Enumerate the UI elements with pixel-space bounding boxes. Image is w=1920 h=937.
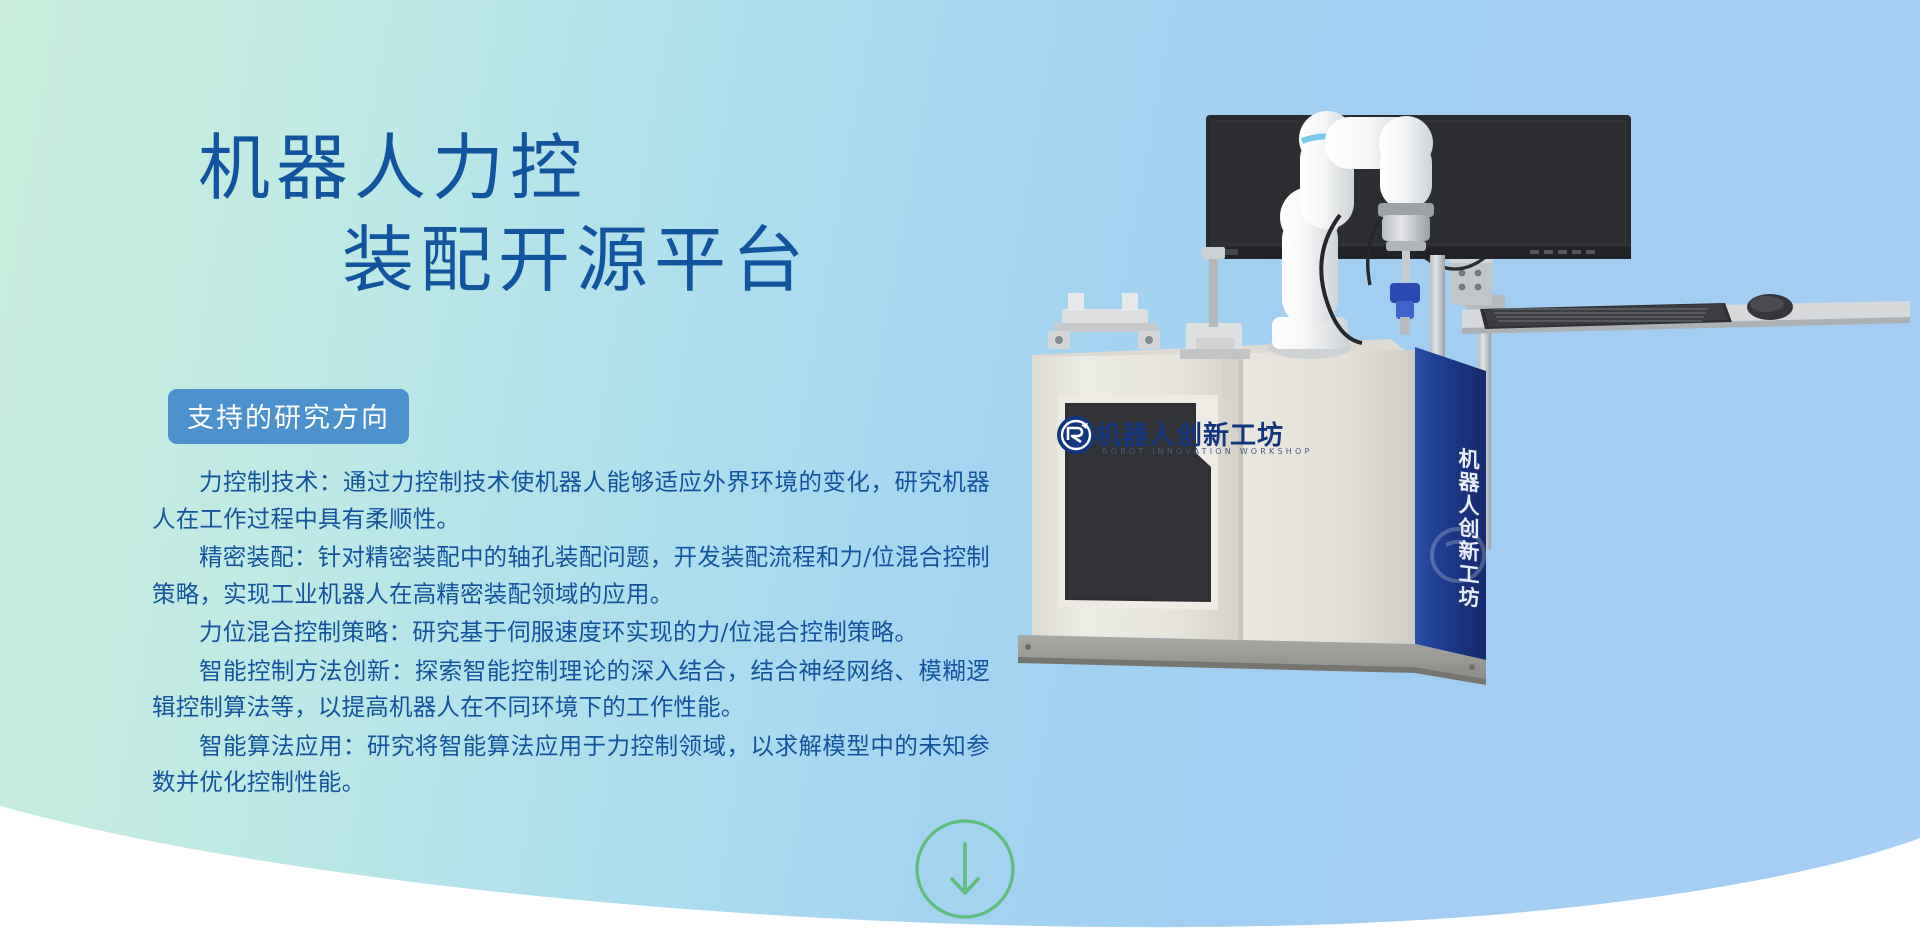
arrow-down-icon (952, 844, 978, 893)
title-line-1: 机器人力控 (150, 122, 980, 214)
research-directions-list: 力控制技术：通过力控制技术使机器人能够适应外界环境的变化，研究机器人在工作过程中… (152, 464, 990, 803)
research-item: 力位混合控制策略：研究基于伺服速度环实现的力/位混合控制策略。 (152, 614, 990, 651)
robot-r-logo-icon (1055, 414, 1097, 456)
section-badge: 支持的研究方向 (168, 389, 409, 444)
research-item: 精密装配：针对精密装配中的轴孔装配问题，开发装配流程和力/位混合控制策略，实现工… (152, 539, 990, 612)
research-item: 智能控制方法创新：探索智能控制理论的深入结合，结合神经网络、模糊逻辑控制算法等，… (152, 653, 990, 726)
machine-brand-en: ROBOT INNOVATION WORKSHOP (1102, 447, 1313, 456)
hero-banner: 机器人创新工坊 ROBOT INNOVATION WORKSHOP 机器人创新工… (0, 0, 1920, 937)
section-badge-row: 支持的研究方向 (168, 389, 409, 444)
page-title: 机器人力控 装配开源平台 (150, 122, 980, 306)
research-item: 智能算法应用：研究将智能算法应用于力控制领域，以求解模型中的未知参数并优化控制性… (152, 728, 990, 801)
title-line-2: 装配开源平台 (150, 214, 980, 306)
research-item: 力控制技术：通过力控制技术使机器人能够适应外界环境的变化，研究机器人在工作过程中… (152, 464, 990, 537)
machine-side-panel-text: 机器人创新工坊 (1437, 417, 1483, 638)
scroll-down-button[interactable] (912, 816, 1018, 922)
text-column: 机器人力控 装配开源平台 支持的研究方向 力控制技术：通过力控制技术使机器人能够… (0, 0, 1020, 937)
